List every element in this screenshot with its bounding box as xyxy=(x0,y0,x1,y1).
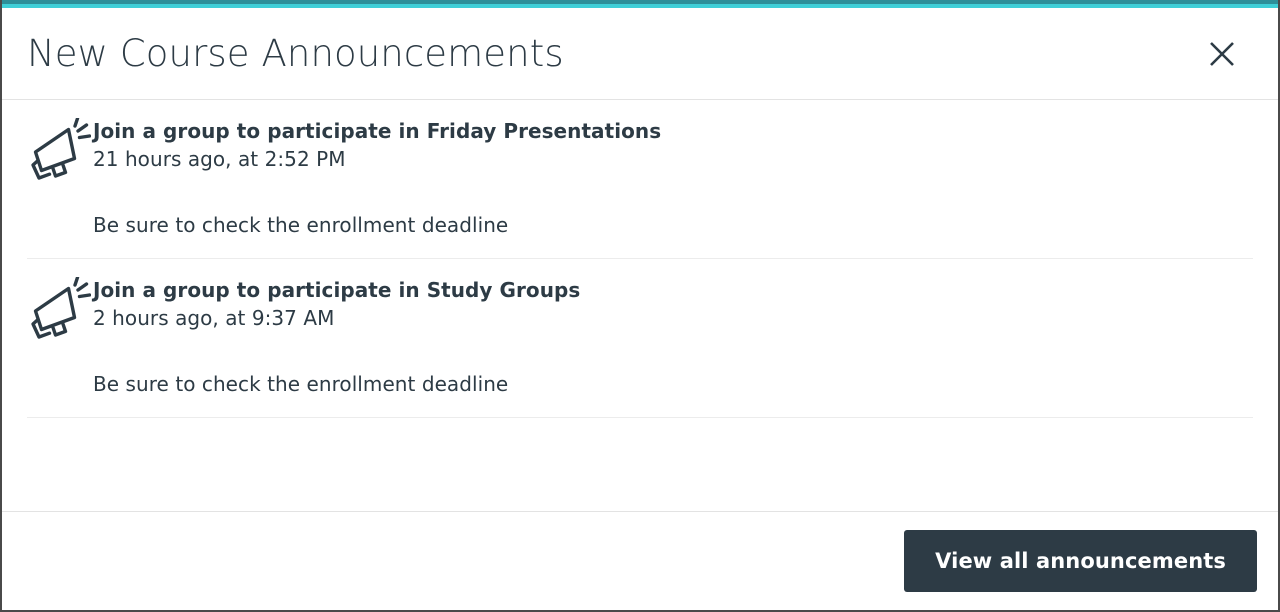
announcements-list: Join a group to participate in Friday Pr… xyxy=(2,100,1278,511)
page-title: New Course Announcements xyxy=(27,32,564,75)
list-divider xyxy=(27,417,1253,418)
list-item[interactable]: Join a group to participate in Study Gro… xyxy=(2,259,1278,417)
announcement-message: Be sure to check the enrollment deadline xyxy=(93,341,1253,417)
announcement-timestamp: 2 hours ago, at 9:37 AM xyxy=(93,304,1253,333)
close-icon xyxy=(1206,38,1238,70)
announcements-tray: New Course Announcements xyxy=(0,0,1280,612)
close-button[interactable] xyxy=(1202,34,1242,74)
tray-header: New Course Announcements xyxy=(2,8,1278,100)
megaphone-icon xyxy=(27,275,93,341)
tray-footer: View all announcements xyxy=(2,511,1278,610)
announcement-message: Be sure to check the enrollment deadline xyxy=(93,182,1253,258)
announcement-timestamp: 21 hours ago, at 2:52 PM xyxy=(93,145,1253,174)
announcement-title: Join a group to participate in Study Gro… xyxy=(93,277,1253,304)
megaphone-icon xyxy=(27,116,93,182)
announcement-title: Join a group to participate in Friday Pr… xyxy=(93,118,1253,145)
list-item[interactable]: Join a group to participate in Friday Pr… xyxy=(2,100,1278,258)
view-all-announcements-button[interactable]: View all announcements xyxy=(904,530,1257,592)
